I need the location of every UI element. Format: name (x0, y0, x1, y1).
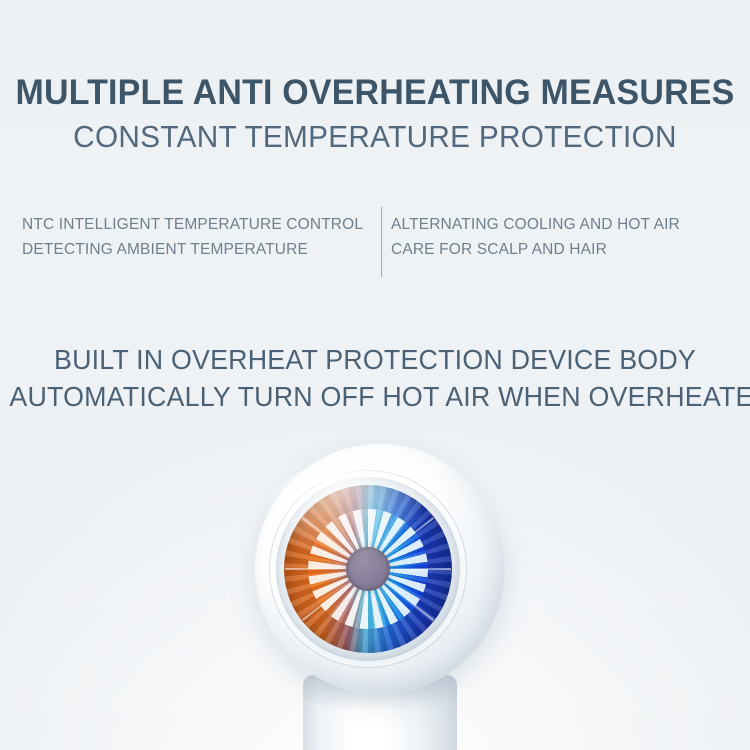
headline-line1: BUILT IN OVERHEAT PROTECTION DEVICE BODY (9, 342, 740, 379)
feature-divider (381, 207, 382, 277)
feature-column-left: NTC INTELLIGENT TEMPERATURE CONTROL DETE… (22, 213, 363, 263)
page-header: MULTIPLE ANTI OVERHEATING MEASURES CONST… (0, 72, 750, 155)
page-title: MULTIPLE ANTI OVERHEATING MEASURES (11, 72, 739, 113)
overheat-headline: BUILT IN OVERHEAT PROTECTION DEVICE BODY… (9, 342, 740, 415)
feature-right-line1: ALTERNATING COOLING AND HOT AIR (391, 213, 680, 238)
headline-line2: AUTOMATICALLY TURN OFF HOT AIR WHEN OVER… (9, 379, 740, 416)
product-image (0, 430, 750, 750)
fan-center-hub (346, 547, 390, 591)
feature-columns: NTC INTELLIGENT TEMPERATURE CONTROL DETE… (0, 205, 750, 283)
fan-grille (284, 485, 452, 653)
feature-right-line2: CARE FOR SCALP AND HAIR (391, 238, 680, 263)
product-feature-page: MULTIPLE ANTI OVERHEATING MEASURES CONST… (0, 0, 750, 750)
feature-left-line2: DETECTING AMBIENT TEMPERATURE (22, 238, 363, 263)
feature-left-line1: NTC INTELLIGENT TEMPERATURE CONTROL (22, 213, 363, 238)
feature-column-right: ALTERNATING COOLING AND HOT AIR CARE FOR… (391, 213, 680, 263)
page-subtitle: CONSTANT TEMPERATURE PROTECTION (15, 118, 735, 155)
